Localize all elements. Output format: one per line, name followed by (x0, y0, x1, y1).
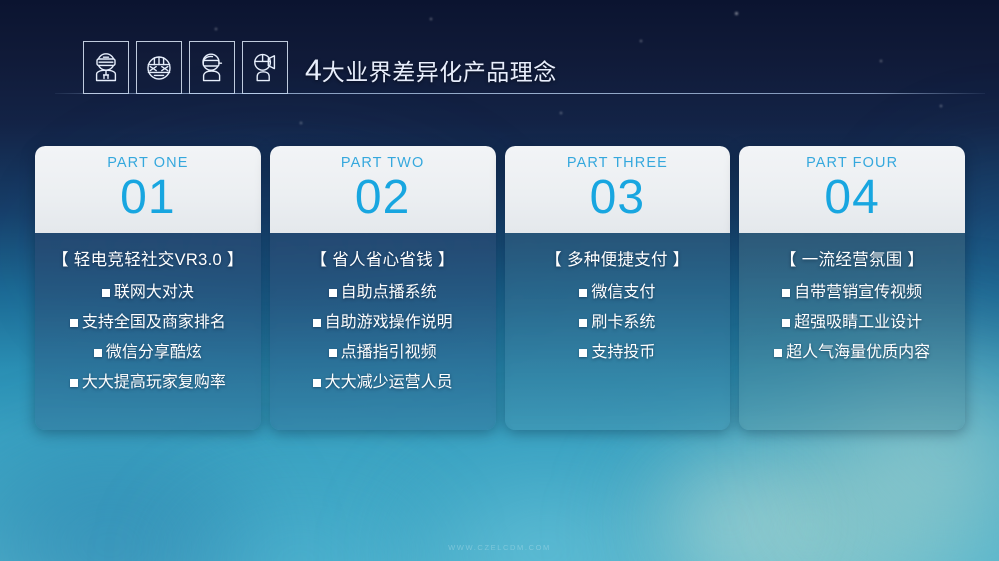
vr-user-camera-icon (250, 51, 280, 85)
list-item-label: 超人气海量优质内容 (786, 345, 930, 361)
list-item: 支持全国及商家排名 (70, 315, 226, 331)
list-item: 点播指引视频 (329, 345, 437, 361)
header-icon-box-2 (136, 41, 182, 94)
part-card-body-4: 【 一流经营氛围 】 自带营销宣传视频 超强吸睛工业设计 超人气海量优质内容 (739, 233, 965, 430)
list-item: 微信支付 (579, 285, 655, 301)
bullet-square-icon (579, 289, 587, 297)
bullet-square-icon (70, 319, 78, 327)
list-item-label: 自助游戏操作说明 (325, 315, 453, 331)
slide-root: 4大业界差异化产品理念 PART ONE 01 【 轻电竞轻社交VR3.0 】 … (0, 0, 999, 561)
part-card-header-2: PART TWO 02 (270, 146, 496, 233)
bullet-square-icon (313, 319, 321, 327)
part-card-title: 【 多种便捷支付 】 (505, 246, 731, 270)
vr-player-icon (91, 51, 121, 85)
part-label: PART TWO (341, 156, 424, 171)
header-icon-row (83, 41, 288, 94)
bullet-square-icon (329, 349, 337, 357)
part-card-2[interactable]: PART TWO 02 【 省人省心省钱 】 自助点播系统 自助游戏操作说明 点… (270, 146, 496, 430)
part-number: 04 (824, 172, 879, 224)
bullet-square-icon (70, 379, 78, 387)
part-card-header-4: PART FOUR 04 (739, 146, 965, 233)
star-speck (300, 122, 302, 124)
list-item-label: 刷卡系统 (591, 315, 655, 331)
part-card-1[interactable]: PART ONE 01 【 轻电竞轻社交VR3.0 】 联网大对决 支持全国及商… (35, 146, 261, 430)
part-label: PART FOUR (806, 156, 898, 171)
bullet-square-icon (329, 289, 337, 297)
part-number: 02 (355, 172, 410, 224)
list-item: 微信分享酷炫 (94, 345, 202, 361)
list-item-label: 自助点播系统 (341, 285, 437, 301)
part-card-header-3: PART THREE 03 (505, 146, 731, 233)
bullet-square-icon (782, 319, 790, 327)
list-item: 自带营销宣传视频 (782, 285, 922, 301)
part-card-list: PART ONE 01 【 轻电竞轻社交VR3.0 】 联网大对决 支持全国及商… (35, 146, 965, 430)
page-title-number: 4 (305, 54, 321, 87)
part-label: PART THREE (567, 156, 668, 171)
part-card-bullets: 自助点播系统 自助游戏操作说明 点播指引视频 大大减少运营人员 (270, 285, 496, 405)
list-item: 超人气海量优质内容 (774, 345, 930, 361)
part-card-title: 【 一流经营氛围 】 (739, 246, 965, 270)
part-card-bullets: 联网大对决 支持全国及商家排名 微信分享酷炫 大大提高玩家复购率 (35, 285, 261, 405)
part-card-3[interactable]: PART THREE 03 【 多种便捷支付 】 微信支付 刷卡系统 支持投币 (505, 146, 731, 430)
list-item-label: 微信支付 (591, 285, 655, 301)
list-item-label: 微信分享酷炫 (106, 345, 202, 361)
list-item-label: 点播指引视频 (341, 345, 437, 361)
list-item: 刷卡系统 (579, 315, 655, 331)
list-item: 自助游戏操作说明 (313, 315, 453, 331)
bullet-square-icon (579, 349, 587, 357)
bullet-square-icon (579, 319, 587, 327)
list-item-label: 超强吸睛工业设计 (794, 315, 922, 331)
vr-user-profile-icon (197, 51, 227, 85)
slide-header: 4大业界差异化产品理念 (0, 0, 999, 120)
header-divider (55, 93, 985, 94)
part-card-bullets: 自带营销宣传视频 超强吸睛工业设计 超人气海量优质内容 (739, 285, 965, 375)
part-card-title: 【 省人省心省钱 】 (270, 246, 496, 270)
part-number: 03 (590, 172, 645, 224)
bullet-square-icon (313, 379, 321, 387)
header-icon-box-3 (189, 41, 235, 94)
watermark: WWW.CZELCDM.COM (0, 543, 999, 552)
list-item: 大大减少运营人员 (313, 375, 453, 391)
bullet-square-icon (102, 289, 110, 297)
list-item-label: 支持全国及商家排名 (82, 315, 226, 331)
page-title: 4大业界差异化产品理念 (305, 53, 557, 88)
list-item: 支持投币 (579, 345, 655, 361)
part-card-title: 【 轻电竞轻社交VR3.0 】 (35, 246, 261, 270)
part-label: PART ONE (107, 156, 188, 171)
header-icon-box-4 (242, 41, 288, 94)
page-title-text: 大业界差异化产品理念 (322, 59, 557, 85)
list-item: 自助点播系统 (329, 285, 437, 301)
list-item-label: 自带营销宣传视频 (794, 285, 922, 301)
part-card-body-1: 【 轻电竞轻社交VR3.0 】 联网大对决 支持全国及商家排名 微信分享酷炫 大… (35, 233, 261, 430)
part-card-body-2: 【 省人省心省钱 】 自助点播系统 自助游戏操作说明 点播指引视频 大大减少运营… (270, 233, 496, 430)
vr-headset-front-icon (144, 51, 174, 85)
part-card-4[interactable]: PART FOUR 04 【 一流经营氛围 】 自带营销宣传视频 超强吸睛工业设… (739, 146, 965, 430)
part-card-bullets: 微信支付 刷卡系统 支持投币 (505, 285, 731, 375)
header-icon-box-1 (83, 41, 129, 94)
part-card-body-3: 【 多种便捷支付 】 微信支付 刷卡系统 支持投币 (505, 233, 731, 430)
list-item: 联网大对决 (102, 285, 194, 301)
part-card-header-1: PART ONE 01 (35, 146, 261, 233)
list-item-label: 支持投币 (591, 345, 655, 361)
list-item: 超强吸睛工业设计 (782, 315, 922, 331)
part-number: 01 (120, 172, 175, 224)
bullet-square-icon (782, 289, 790, 297)
list-item-label: 大大减少运营人员 (325, 375, 453, 391)
bullet-square-icon (94, 349, 102, 357)
list-item: 大大提高玩家复购率 (70, 375, 226, 391)
bullet-square-icon (774, 349, 782, 357)
list-item-label: 联网大对决 (114, 285, 194, 301)
list-item-label: 大大提高玩家复购率 (82, 375, 226, 391)
